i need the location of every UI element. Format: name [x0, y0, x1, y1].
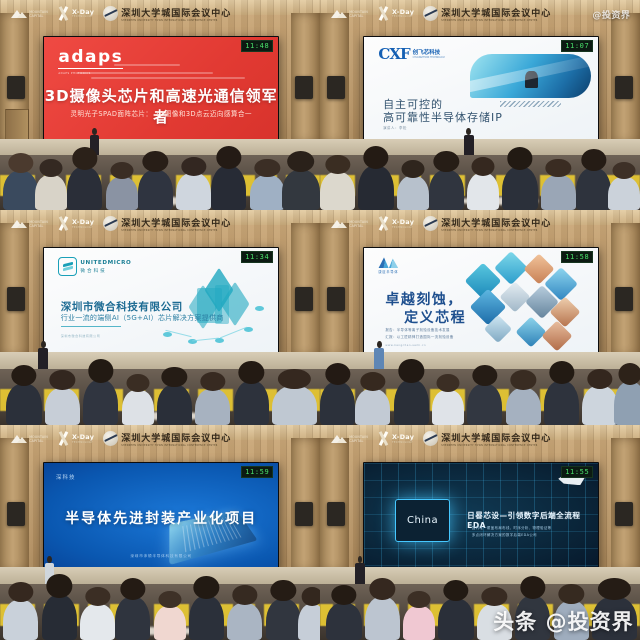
- sponsor-logo: MOUNTAIN CAPITAL: [11, 434, 48, 443]
- timestamp-overlay: 11:07: [561, 40, 593, 52]
- venue-logo: 深圳大学城国际会议中心 SHENZHEN UNIVERSITY TOWN INT…: [423, 216, 551, 232]
- slide-subtitle-line2: 汇报：以工匠精神打造国际一流刻蚀设备: [385, 335, 453, 339]
- mountain-icon: [331, 9, 347, 18]
- x-letter-icon: [377, 217, 390, 230]
- sponsor-name: MOUNTAIN CAPITAL: [29, 10, 48, 18]
- timestamp-overlay: 11:59: [241, 466, 273, 478]
- event-logo: X-Day TECHNOLOGY: [57, 7, 94, 20]
- photo-panel-2: MOUNTAIN CAPITAL X-Day TECHNOLOGY 深圳大学城国…: [320, 0, 640, 210]
- venue-badge-icon: [103, 216, 118, 231]
- photo-panel-4: MOUNTAIN CAPITAL X-Day TECHNOLOGY 深圳大学城国…: [320, 210, 640, 425]
- slide-brand-logo: 深科技: [56, 473, 76, 481]
- auditorium-room: MOUNTAIN CAPITAL X-Day TECHNOLOGY 深圳大学城国…: [320, 425, 640, 640]
- stage-banner: MOUNTAIN CAPITAL X-Day TECHNOLOGY 深圳大学城国…: [6, 427, 313, 451]
- mountain-icon: [11, 9, 27, 18]
- stage-banner: MOUNTAIN CAPITAL X-Day TECHNOLOGY 深圳大学城国…: [6, 212, 313, 236]
- sponsor-logo: MOUNTAIN CAPITAL: [11, 9, 48, 18]
- led-screen: 康臣半导体: [363, 247, 599, 357]
- venue-badge-icon: [423, 216, 438, 231]
- event-logo: X-Day TECHNOLOGY: [377, 432, 414, 445]
- event-logo: X-Day TECHNOLOGY: [57, 217, 94, 230]
- speaker-right-icon: [295, 287, 313, 311]
- brand-mark-icon: [378, 257, 398, 268]
- slide-subtitle: 行业一流的端侧AI（5G+AI）芯片解决方案提供商: [61, 313, 224, 323]
- venue-badge-icon: [423, 431, 438, 446]
- decor-zigzag: [500, 101, 561, 107]
- slide-content: 深科技 半导体先进封装产业化项目 深圳市沛顿半导体科技有限公司: [44, 463, 278, 571]
- slide-footnote: 深圳市沛顿半导体科技有限公司: [44, 554, 278, 559]
- auditorium-room: MOUNTAIN CAPITAL X-Day TECHNOLOGY 深圳大学城国…: [320, 210, 640, 425]
- mountain-icon: [331, 219, 347, 228]
- sponsor-logo: MOUNTAIN CAPITAL: [331, 9, 368, 18]
- brand-name-cn: 微合科技: [80, 268, 131, 274]
- speaker-left-icon: [7, 502, 25, 526]
- decor-bar: [77, 72, 212, 74]
- slide-subtitle-line1: 报告：半导体等离子刻蚀设备技术发展: [385, 328, 449, 332]
- brand-mark: CXF: [378, 45, 409, 63]
- speaker-right-icon: [615, 287, 633, 311]
- slide-subtitle: 报告：半导体等离子刻蚀设备技术发展 汇报：以工匠精神打造国际一流刻蚀设备: [385, 327, 453, 340]
- venue-name-cn: 深圳大学城国际会议中心: [121, 6, 231, 19]
- watermark-main: 头条 @投资界: [493, 606, 633, 636]
- sponsor-line2: CAPITAL: [29, 14, 43, 18]
- x-letter-icon: [57, 432, 70, 445]
- speaker-right-icon: [295, 502, 313, 526]
- slide-hero-image: [470, 54, 591, 98]
- slide-brand-logo: CXF 创飞芯科技 CHUANGFEIXIN TECHNOLOGY: [378, 45, 445, 63]
- audience-crowd: [320, 361, 640, 426]
- slide-content: CXF 创飞芯科技 CHUANGFEIXIN TECHNOLOGY 自主可控的 …: [364, 37, 598, 142]
- venue-logo: 深圳大学城国际会议中心 SHENZHEN UNIVERSITY TOWN INT…: [423, 431, 551, 447]
- speaker-left-icon: [7, 287, 25, 311]
- slide-footnote: 深圳市微合科技有限公司: [61, 334, 101, 338]
- venue-logo: 深圳大学城国际会议中心 SHENZHEN UNIVERSITY TOWN INT…: [103, 6, 231, 22]
- watermark-top-right: @投资界: [592, 8, 630, 21]
- sponsor-name: MOUNTAIN CAPITAL: [349, 220, 368, 228]
- sponsor-name: MOUNTAIN CAPITAL: [349, 10, 368, 18]
- led-screen: CXF 创飞芯科技 CHUANGFEIXIN TECHNOLOGY 自主可控的 …: [363, 36, 599, 143]
- sponsor-name: MOUNTAIN CAPITAL: [29, 435, 48, 443]
- timestamp-overlay: 11:55: [561, 466, 593, 478]
- x-letter-icon: [377, 432, 390, 445]
- timestamp-overlay: 11:34: [241, 251, 273, 263]
- venue-badge-icon: [103, 431, 118, 446]
- speaker-left-icon: [327, 287, 345, 311]
- slide-content: adaps ADAPS PHOTONICS 3D摄像头芯片和高速光通信领军者 灵…: [44, 37, 278, 142]
- slide-content: 康臣半导体: [364, 248, 598, 356]
- photo-panel-3: MOUNTAIN CAPITAL X-Day TECHNOLOGY 深圳大学城国…: [0, 210, 320, 425]
- slide-brand-logo: adaps: [58, 47, 123, 69]
- auditorium-room: MOUNTAIN CAPITAL X-Day TECHNOLOGY 深圳大学城国…: [0, 0, 320, 210]
- x-letter-icon: [377, 7, 390, 20]
- slide-subtitle-line2: 多点闭环解决方案的数字后端EDA公司: [472, 533, 537, 537]
- speaker-right-icon: [615, 76, 633, 99]
- chip-label: China: [407, 515, 438, 526]
- stage-banner: MOUNTAIN CAPITAL X-Day TECHNOLOGY 深圳大学城国…: [326, 427, 633, 451]
- photo-collage: MOUNTAIN CAPITAL X-Day TECHNOLOGY 深圳大学城国…: [0, 0, 640, 640]
- speaker-right-icon: [615, 502, 633, 526]
- slide-footnote: www.kangchen-semi.cn: [385, 344, 426, 347]
- brand-name-cn: 康臣半导体: [378, 269, 398, 274]
- sponsor-name: MOUNTAIN CAPITAL: [349, 435, 368, 443]
- sponsor-logo: MOUNTAIN CAPITAL: [11, 219, 48, 228]
- brand-name-en: CHUANGFEIXIN TECHNOLOGY: [413, 56, 445, 59]
- auditorium-room: MOUNTAIN CAPITAL X-Day TECHNOLOGY 深圳大学城国…: [320, 0, 640, 210]
- chip-illustration: China: [395, 499, 451, 542]
- photo-panel-1: MOUNTAIN CAPITAL X-Day TECHNOLOGY 深圳大学城国…: [0, 0, 320, 210]
- stage-banner: MOUNTAIN CAPITAL X-Day TECHNOLOGY 深圳大学城国…: [326, 2, 633, 25]
- led-screen: adaps ADAPS PHOTONICS 3D摄像头芯片和高速光通信领军者 灵…: [43, 36, 279, 143]
- timestamp-overlay: 11:48: [241, 40, 273, 52]
- photo-panel-5: MOUNTAIN CAPITAL X-Day TECHNOLOGY 深圳大学城国…: [0, 425, 320, 640]
- x-letter-icon: [57, 217, 70, 230]
- led-screen: China 日晷芯设—引领数字后端全流程EDA 国内唯一覆盖布局布线、时序分析、…: [363, 462, 599, 572]
- sponsor-logo: MOUNTAIN CAPITAL: [331, 434, 368, 443]
- slide-footnote: 演讲人：李松: [383, 125, 407, 130]
- speaker-left-icon: [7, 76, 25, 99]
- sponsor-logo: MOUNTAIN CAPITAL: [331, 219, 368, 228]
- slide-title-line2: 高可靠性半导体存储IP: [383, 109, 503, 125]
- venue-logo: 深圳大学城国际会议中心 SHENZHEN UNIVERSITY TOWN INT…: [103, 216, 231, 232]
- mountain-icon: [11, 219, 27, 228]
- speaker-left-icon: [327, 76, 345, 99]
- led-screen: 深科技 半导体先进封装产业化项目 深圳市沛顿半导体科技有限公司 11:59: [43, 462, 279, 572]
- slide-brand-logo: 康臣半导体: [378, 257, 398, 274]
- x-letter-icon: [57, 7, 70, 20]
- audience-crowd: [0, 147, 320, 210]
- slide-content: UNITEDMICRO 微合科技: [44, 248, 278, 356]
- slide-subtitle-line1: 国内唯一覆盖布局布线、时序分析、物理验证等: [472, 526, 552, 530]
- venue-badge-icon: [103, 6, 118, 21]
- led-screen: UNITEDMICRO 微合科技: [43, 247, 279, 357]
- slide-photo-tiles: [465, 252, 596, 353]
- auditorium-room: MOUNTAIN CAPITAL X-Day TECHNOLOGY 深圳大学城国…: [0, 425, 320, 640]
- timestamp-overlay: 11:58: [561, 251, 593, 263]
- venue-name-en: SHENZHEN UNIVERSITY TOWN INTERNATIONAL C…: [121, 19, 231, 22]
- event-subtitle: TECHNOLOGY: [72, 15, 94, 18]
- slide-title-line2: 定义芯程: [404, 307, 466, 327]
- event-logo: X-Day TECHNOLOGY: [57, 432, 94, 445]
- speaker-left-icon: [327, 502, 345, 526]
- photo-panel-6: MOUNTAIN CAPITAL X-Day TECHNOLOGY 深圳大学城国…: [320, 425, 640, 640]
- stage-banner: MOUNTAIN CAPITAL X-Day TECHNOLOGY 深圳大学城国…: [326, 212, 633, 236]
- slide-brand-logo: UNITEDMICRO 微合科技: [58, 257, 131, 276]
- audience-crowd: [0, 576, 320, 640]
- mountain-icon: [331, 434, 347, 443]
- speaker-right-icon: [295, 76, 313, 99]
- slide-title: 半导体先进封装产业化项目: [44, 508, 278, 528]
- decor-bar: [91, 77, 245, 79]
- audience-crowd: [0, 361, 320, 426]
- audience-crowd: [320, 147, 640, 210]
- event-logo: X-Day TECHNOLOGY: [377, 217, 414, 230]
- slide-title-line1: 卓越刻蚀，: [385, 289, 463, 309]
- venue-logo: 深圳大学城国际会议中心 SHENZHEN UNIVERSITY TOWN INT…: [103, 431, 231, 447]
- sponsor-name: MOUNTAIN CAPITAL: [29, 220, 48, 228]
- stage-banner: MOUNTAIN CAPITAL X-Day TECHNOLOGY 深圳大学城国…: [6, 2, 313, 25]
- auditorium-room: MOUNTAIN CAPITAL X-Day TECHNOLOGY 深圳大学城国…: [0, 210, 320, 425]
- brand-hex-icon: [58, 257, 77, 276]
- brand-name-en: UNITEDMICRO: [80, 260, 131, 267]
- decor-rule: [61, 326, 122, 327]
- venue-badge-icon: [423, 6, 438, 21]
- decor-bar: [114, 64, 179, 66]
- mountain-icon: [11, 434, 27, 443]
- event-logo: X-Day TECHNOLOGY: [377, 7, 414, 20]
- slide-title: 3D摄像头芯片和高速光通信领军者: [44, 85, 278, 127]
- slide-content: China 日晷芯设—引领数字后端全流程EDA 国内唯一覆盖布局布线、时序分析、…: [364, 463, 598, 571]
- hero-figure: [525, 71, 537, 88]
- slide-subtitle: 灵明光子SPAD面阵芯片： 2D图像和3D点云迈向感算合一: [44, 108, 278, 118]
- slide-subtitle: 国内唯一覆盖布局布线、时序分析、物理验证等 多点闭环解决方案的数字后端EDA公司: [472, 525, 552, 538]
- slide-title: 深圳市微合科技有限公司: [61, 299, 183, 314]
- venue-logo: 深圳大学城国际会议中心 SHENZHEN UNIVERSITY TOWN INT…: [423, 6, 551, 22]
